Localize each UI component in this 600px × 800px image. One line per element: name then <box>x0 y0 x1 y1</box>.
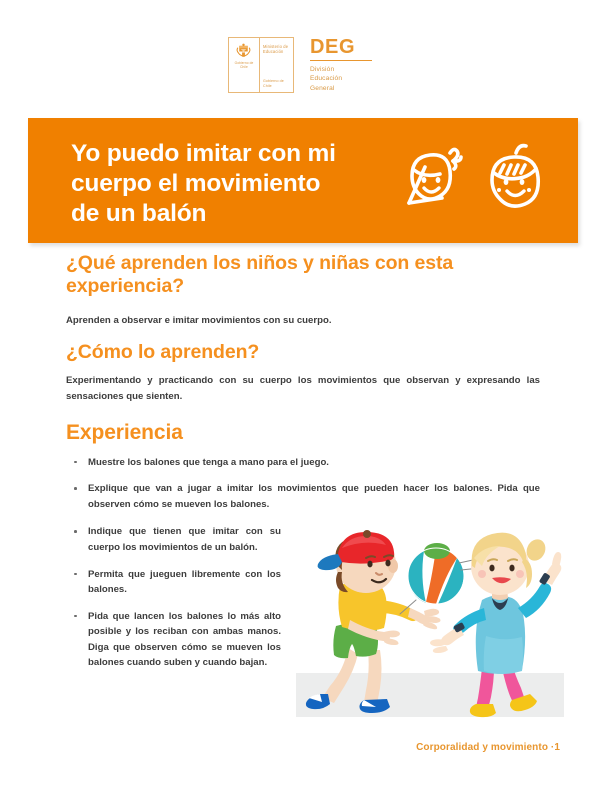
deg-subtitle-line3: General <box>310 84 372 93</box>
banner-title-line-1: Yo puedo imitar con mi <box>71 139 401 169</box>
section-body-que-aprenden: Aprenden a observar e imitar movimientos… <box>66 313 540 330</box>
children-playing-with-beach-ball-illustration <box>296 528 564 728</box>
section-heading-como-aprenden: ¿Cómo lo aprenden? <box>66 341 540 364</box>
deg-subtitle-line1: División <box>310 65 372 74</box>
girl-face-icon <box>396 140 472 220</box>
chile-coat-of-arms-icon <box>234 43 253 60</box>
section-body-como-aprenden: Experimentando y practicando con su cuer… <box>66 373 540 406</box>
boy-face-icon <box>478 140 554 220</box>
list-item: Indique que tienen que imitar con su cue… <box>66 524 281 555</box>
banner-title-line-3: de un balón <box>71 199 401 229</box>
banner-title-line-2: cuerpo el movimiento <box>71 169 401 199</box>
footer-caption: Corporalidad y movimiento ·1 <box>416 742 560 753</box>
logo-country-label: Gobierno de Chile <box>263 79 291 88</box>
list-item: Permita que jueguen libremente con los b… <box>66 567 281 598</box>
experience-bullet-list-wide: Muestre los balones que tenga a mano par… <box>66 455 540 513</box>
logo-ministry-panel: Ministerio de Educación Gobierno de Chil… <box>260 38 293 92</box>
deg-subtitle-line2: Educación <box>310 74 372 83</box>
deg-divider <box>310 60 372 61</box>
title-banner: Yo puedo imitar con mi cuerpo el movimie… <box>28 118 578 243</box>
logo-crest-panel: Gobierno de Chile <box>229 38 260 92</box>
list-item: Pida que lancen los balones lo más alto … <box>66 609 281 671</box>
experience-bullet-list-narrow: Indique que tienen que imitar con su cue… <box>66 524 281 670</box>
list-item: Muestre los balones que tenga a mano par… <box>66 455 540 471</box>
deg-acronym: DEG <box>310 37 372 57</box>
section-heading-que-aprenden: ¿Qué aprenden los niños y niñas con esta… <box>66 252 540 299</box>
deg-logo: DEG División Educación General <box>308 37 372 93</box>
list-item: Explique que van a jugar a imitar los mo… <box>66 481 540 512</box>
banner-face-icons <box>396 136 556 224</box>
section-heading-experiencia: Experiencia <box>66 420 540 445</box>
logo-gobierno-label: Gobierno de Chile <box>231 61 257 69</box>
banner-title: Yo puedo imitar con mi cuerpo el movimie… <box>71 139 401 229</box>
header-logo-bar: Gobierno de Chile Ministerio de Educació… <box>0 28 600 102</box>
logo-ministry-line2: Educación <box>263 49 291 55</box>
gobierno-de-chile-logo: Gobierno de Chile Ministerio de Educació… <box>228 37 294 93</box>
